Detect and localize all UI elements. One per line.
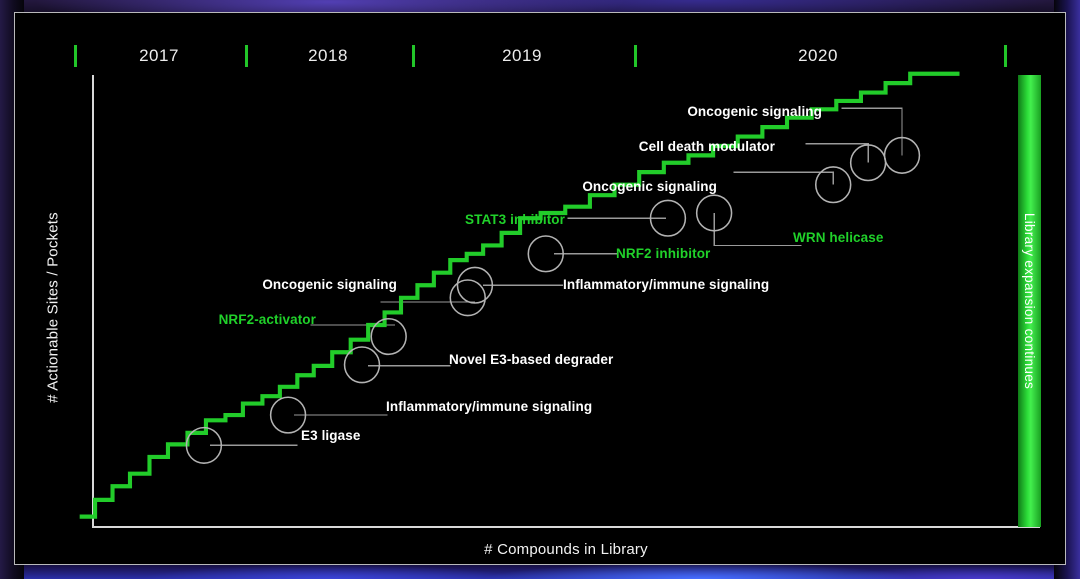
marker-novel-e3 [345, 347, 380, 383]
anno-inflammatory-mid: Inflammatory/immune signaling [563, 277, 769, 292]
anno-oncogenic-1: Oncogenic signaling [582, 179, 717, 194]
step-chart-plot [15, 13, 1080, 579]
anno-oncogenic-2: Oncogenic signaling [687, 104, 822, 119]
marker-oncogenic-mid [450, 280, 485, 316]
chart-card: 2017 2018 2019 2020 # Actionable Sites /… [14, 12, 1066, 565]
anno-novel-e3: Novel E3-based degrader [449, 352, 613, 367]
leader-cell-death [805, 144, 868, 163]
leader-oncogenic-upper [734, 172, 834, 185]
anno-nrf2-activator: NRF2-activator [219, 312, 316, 327]
marker-nrf2-activator [371, 319, 406, 355]
anno-cell-death-modulator: Cell death modulator [639, 139, 775, 154]
anno-e3-ligase: E3 ligase [301, 428, 360, 443]
anno-oncogenic-mid: Oncogenic signaling [262, 277, 397, 292]
anno-inflammatory-low: Inflammatory/immune signaling [386, 399, 592, 414]
step-curve [80, 74, 960, 517]
slide-canvas: 2017 2018 2019 2020 # Actionable Sites /… [0, 0, 1080, 579]
anno-nrf2-inhibitor: NRF2 inhibitor [616, 246, 710, 261]
anno-stat3-inhibitor: STAT3 inhibitor [465, 212, 565, 227]
anno-wrn-helicase: WRN helicase [793, 230, 883, 245]
leader-wrn-helicase [714, 213, 801, 245]
leader-oncogenic-top [841, 108, 902, 155]
